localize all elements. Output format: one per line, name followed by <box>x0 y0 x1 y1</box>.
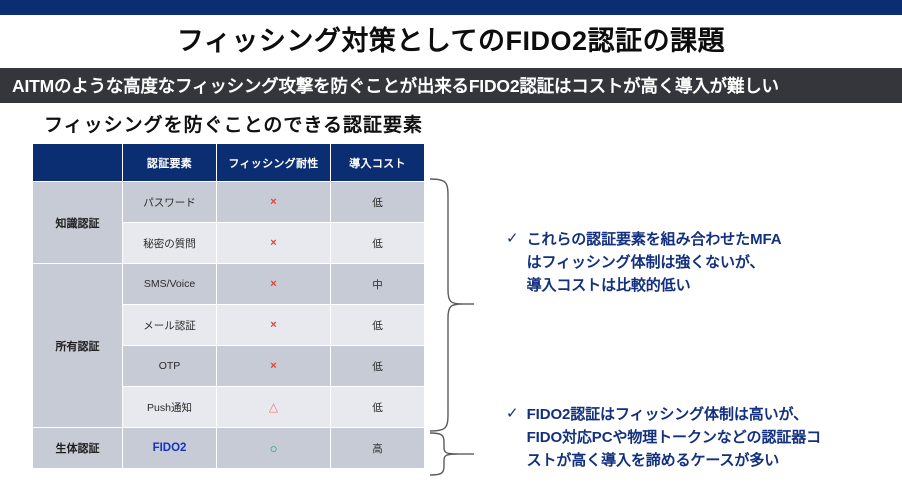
resistance-x-icon: × <box>270 237 276 249</box>
column-header-cost: 導入コスト <box>331 144 425 182</box>
resistance-x-icon: × <box>270 360 276 372</box>
cell-deployment-cost: 低 <box>331 305 425 346</box>
cell-phishing-resistance: × <box>217 305 331 346</box>
section-heading: フィッシングを防ぐことのできる認証要素 <box>44 110 423 137</box>
cell-auth-factor: SMS/Voice <box>123 264 217 305</box>
table-row: 所有認証SMS/Voice×中 <box>33 264 425 305</box>
cell-auth-factor: OTP <box>123 346 217 387</box>
brace-connector-fido2 <box>428 430 474 478</box>
top-accent-bar <box>0 0 902 15</box>
authentication-factors-table: 認証要素 フィッシング耐性 導入コスト 知識認証パスワード×低秘密の質問×低所有… <box>32 143 425 469</box>
resistance-x-icon: × <box>270 278 276 290</box>
column-header-factor: 認証要素 <box>123 144 217 182</box>
table-header-row: 認証要素 フィッシング耐性 導入コスト <box>33 144 425 182</box>
brace-connector-mfa <box>428 176 474 434</box>
resistance-circle-icon: ○ <box>270 441 278 456</box>
column-header-group <box>33 144 123 182</box>
cell-phishing-resistance: × <box>217 346 331 387</box>
cell-auth-group: 知識認証 <box>33 182 123 264</box>
cell-deployment-cost: 低 <box>331 387 425 428</box>
cell-auth-factor: パスワード <box>123 182 217 223</box>
cell-auth-factor: FIDO2 <box>123 428 217 469</box>
subtitle-text: AITMのような高度なフィッシング攻撃を防ぐことが出来るFIDO2認証はコストが… <box>0 73 779 98</box>
resistance-x-icon: × <box>270 319 276 331</box>
cell-deployment-cost: 高 <box>331 428 425 469</box>
cell-auth-factor: メール認証 <box>123 305 217 346</box>
check-icon: ✓ <box>506 403 519 425</box>
subtitle-banner: AITMのような高度なフィッシング攻撃を防ぐことが出来るFIDO2認証はコストが… <box>0 68 902 103</box>
cell-auth-factor: 秘密の質問 <box>123 223 217 264</box>
slide-canvas: フィッシング対策としてのFIDO2認証の課題 AITMのような高度なフィッシング… <box>0 0 902 492</box>
cell-phishing-resistance: × <box>217 264 331 305</box>
table-row: 生体認証FIDO2○高 <box>33 428 425 469</box>
column-header-resistance: フィッシング耐性 <box>217 144 331 182</box>
callout-mfa-text: これらの認証要素を組み合わせたMFA はフィッシング体制は強くないが、 導入コス… <box>527 228 782 297</box>
callout-fido2-text: FIDO2認証はフィッシング体制は高いが、 FIDO対応PCや物理トークンなどの… <box>527 403 821 472</box>
cell-auth-group: 生体認証 <box>33 428 123 469</box>
cell-phishing-resistance: × <box>217 223 331 264</box>
table-body: 知識認証パスワード×低秘密の質問×低所有認証SMS/Voice×中メール認証×低… <box>33 182 425 469</box>
cell-phishing-resistance: ○ <box>217 428 331 469</box>
cell-auth-factor: Push通知 <box>123 387 217 428</box>
callout-fido2: ✓ FIDO2認証はフィッシング体制は高いが、 FIDO対応PCや物理トークンな… <box>506 403 898 472</box>
cell-deployment-cost: 低 <box>331 223 425 264</box>
check-icon: ✓ <box>506 228 519 250</box>
cell-deployment-cost: 低 <box>331 182 425 223</box>
cell-deployment-cost: 低 <box>331 346 425 387</box>
table-row: 知識認証パスワード×低 <box>33 182 425 223</box>
cell-phishing-resistance: × <box>217 182 331 223</box>
resistance-triangle-icon: △ <box>269 400 278 414</box>
callout-mfa: ✓ これらの認証要素を組み合わせたMFA はフィッシング体制は強くないが、 導入… <box>506 228 896 297</box>
page-title: フィッシング対策としてのFIDO2認証の課題 <box>0 20 902 62</box>
resistance-x-icon: × <box>270 196 276 208</box>
cell-phishing-resistance: △ <box>217 387 331 428</box>
cell-deployment-cost: 中 <box>331 264 425 305</box>
cell-auth-group: 所有認証 <box>33 264 123 428</box>
